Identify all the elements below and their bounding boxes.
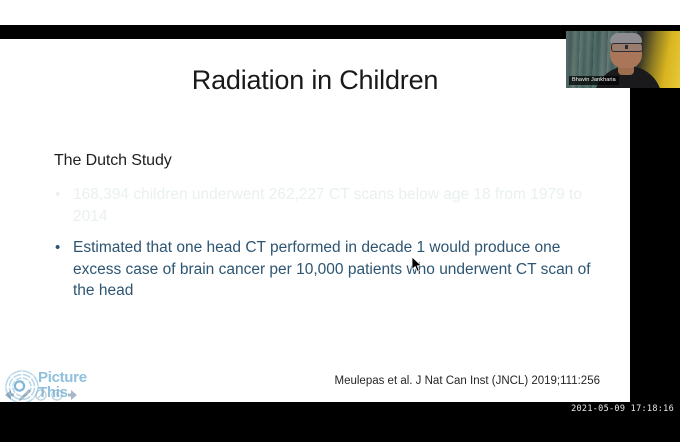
list-item: • 168,394 children underwent 262,227 CT … xyxy=(54,184,594,227)
bullet-marker-icon: • xyxy=(54,237,73,258)
annotation-toolbar[interactable] xyxy=(2,388,80,402)
participant-hair xyxy=(610,33,642,43)
screen-recording-frame: Radiation in Children The Dutch Study • … xyxy=(0,0,680,442)
forward-arrow-icon[interactable] xyxy=(66,388,80,402)
back-arrow-icon[interactable] xyxy=(2,388,16,402)
clock-icon[interactable] xyxy=(50,388,64,402)
slide-body: The Dutch Study • 168,394 children under… xyxy=(54,152,594,312)
bullet-marker-icon: • xyxy=(54,184,73,205)
list-item-text: 168,394 children underwent 262,227 CT sc… xyxy=(73,184,594,227)
eraser-icon[interactable] xyxy=(34,388,48,402)
participant-glasses-icon xyxy=(611,43,643,52)
top-white-margin xyxy=(0,0,680,25)
presentation-slide: Radiation in Children The Dutch Study • … xyxy=(0,39,630,402)
section-heading: The Dutch Study xyxy=(54,152,594,170)
list-item: • Estimated that one head CT performed i… xyxy=(54,237,594,302)
pen-icon[interactable] xyxy=(18,388,32,402)
page-title: Radiation in Children xyxy=(0,65,630,96)
participant-name-label: Bhavin Jankharia xyxy=(569,76,619,85)
webcam-thumbnail[interactable]: Bhavin Jankharia xyxy=(566,31,680,88)
right-black-bar xyxy=(630,39,680,442)
list-item-text: Estimated that one head CT performed in … xyxy=(73,237,594,302)
recording-timestamp: 2021-05-09 17:18:16 xyxy=(571,404,674,414)
